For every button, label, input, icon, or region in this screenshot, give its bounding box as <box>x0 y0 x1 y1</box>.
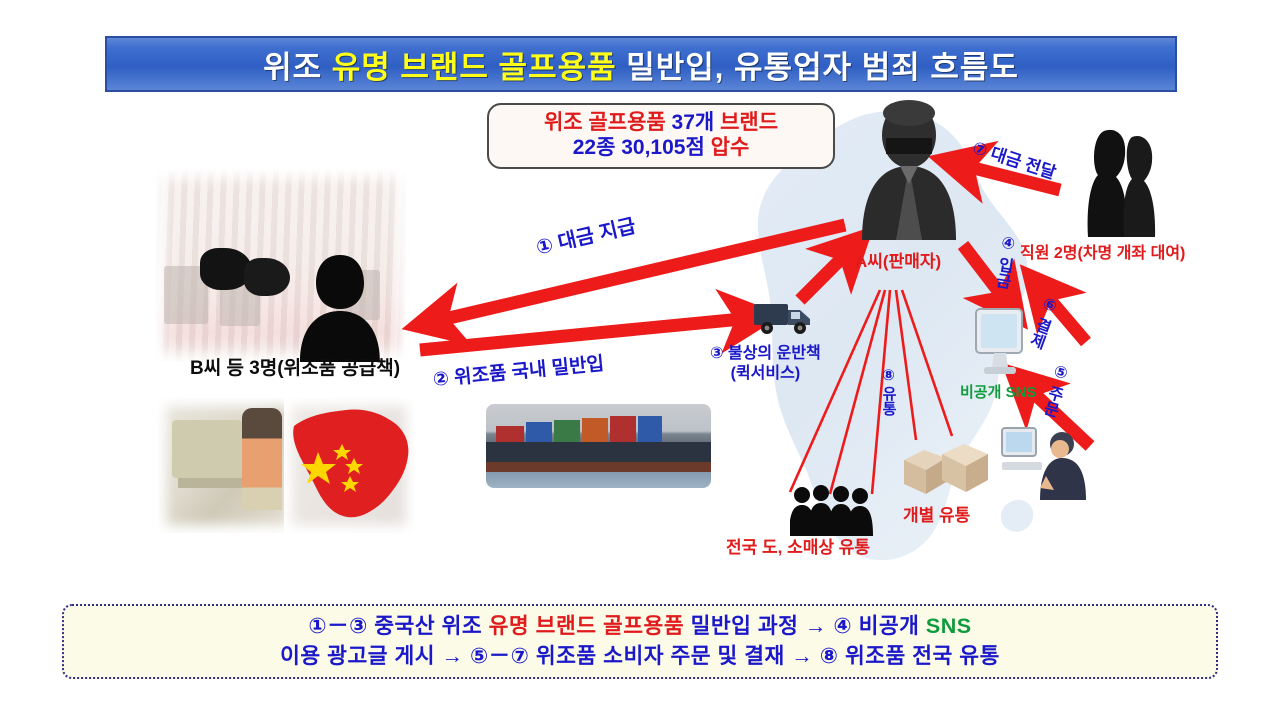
seizure-line-1: 위조 골프용품 37개 브랜드 <box>544 111 778 136</box>
page-title: 위조 유명 브랜드 골프용품 밀반입, 유통업자 범죄 흐름도 <box>263 42 1019 87</box>
summary-text-sns: SNS <box>926 614 972 638</box>
label-private-sns: 비공개 SNS <box>960 384 1036 401</box>
summary-text-china: 중국산 위조 <box>374 614 488 638</box>
page-title-banner: 위조 유명 브랜드 골프용품 밀반입, 유통업자 범죄 흐름도 <box>105 36 1177 92</box>
summary-box: ①－③ 중국산 위조 유명 브랜드 골프용품 밀반입 과정 → ④ 비공개 SN… <box>62 604 1218 679</box>
sewing-machine-photo <box>158 398 296 533</box>
seizure-text-confiscated: 압수 <box>705 136 749 159</box>
china-map-icon <box>284 398 414 533</box>
summary-text-line2: 이용 광고글 게시 → ⑤－⑦ 위조품 소비자 주문 및 결재 → ⑧ 위조품 … <box>280 644 1000 668</box>
women-silhouette-icon <box>1082 125 1160 237</box>
label-step8-number: ⑧ <box>878 366 899 384</box>
label-employees: 직원 2명(차명 개좌 대여) <box>1020 245 1185 263</box>
summary-steps-1-3: ①－③ <box>308 614 374 638</box>
seizure-text-brand: 브랜드 <box>714 111 778 134</box>
boxes-icon <box>898 436 994 500</box>
container-ship-photo <box>486 404 711 488</box>
arrow-step2-smuggling <box>420 318 752 350</box>
seizure-brand-count: 37개 <box>672 111 715 134</box>
label-step1: ① 대금 지급 <box>534 215 638 260</box>
label-step2: ② 위조품 국내 밀반입 <box>432 354 605 392</box>
summary-text-brand-highlight: 유명 브랜드 골프용품 <box>489 614 684 638</box>
label-individual-distribution: 개별 유통 <box>903 506 970 526</box>
title-part-3: 밀반입, 유통업자 범죄 흐름도 <box>617 50 1019 85</box>
label-step3-line1: ③ 불상의 운반책 <box>710 344 821 364</box>
label-step3-line2: (퀵서비스) <box>710 364 821 384</box>
seizure-line-2: 22종 30,105점 압수 <box>573 136 750 161</box>
label-nationwide-distribution: 전국 도, 소매상 유통 <box>726 538 870 558</box>
china-map-photo <box>284 398 414 533</box>
label-step3: ③ 불상의 운반책 (퀵서비스) <box>710 344 821 384</box>
summary-line-1: ①－③ 중국산 위조 유명 브랜드 골프용품 밀반입 과정 → ④ 비공개 SN… <box>308 612 971 641</box>
crowd-icon <box>790 484 876 536</box>
label-seller: A씨(판매자) <box>855 252 941 272</box>
summary-text-smuggling: 밀반입 과정 → ④ 비공개 <box>684 614 926 638</box>
summary-line-2: 이용 광고글 게시 → ⑤－⑦ 위조품 소비자 주문 및 결재 → ⑧ 위조품 … <box>280 642 1000 671</box>
seizure-summary-box: 위조 골프용품 37개 브랜드 22종 30,105점 압수 <box>487 103 835 169</box>
seller-silhouette-icon <box>860 100 958 240</box>
seizure-text-goods: 위조 골프용품 <box>544 111 672 134</box>
seizure-item-count: 22종 30,105점 <box>573 136 705 159</box>
person-at-desk-icon <box>1000 418 1086 500</box>
title-part-2-highlight: 유명 브랜드 골프용품 <box>332 50 617 85</box>
label-step8-text: 유통 <box>878 386 899 416</box>
label-step8: ⑧ 유통 <box>878 366 899 416</box>
label-supplier: B씨 등 3명(위조품 공급책) <box>190 358 400 380</box>
title-part-1: 위조 <box>263 50 332 85</box>
truck-icon <box>752 296 814 338</box>
